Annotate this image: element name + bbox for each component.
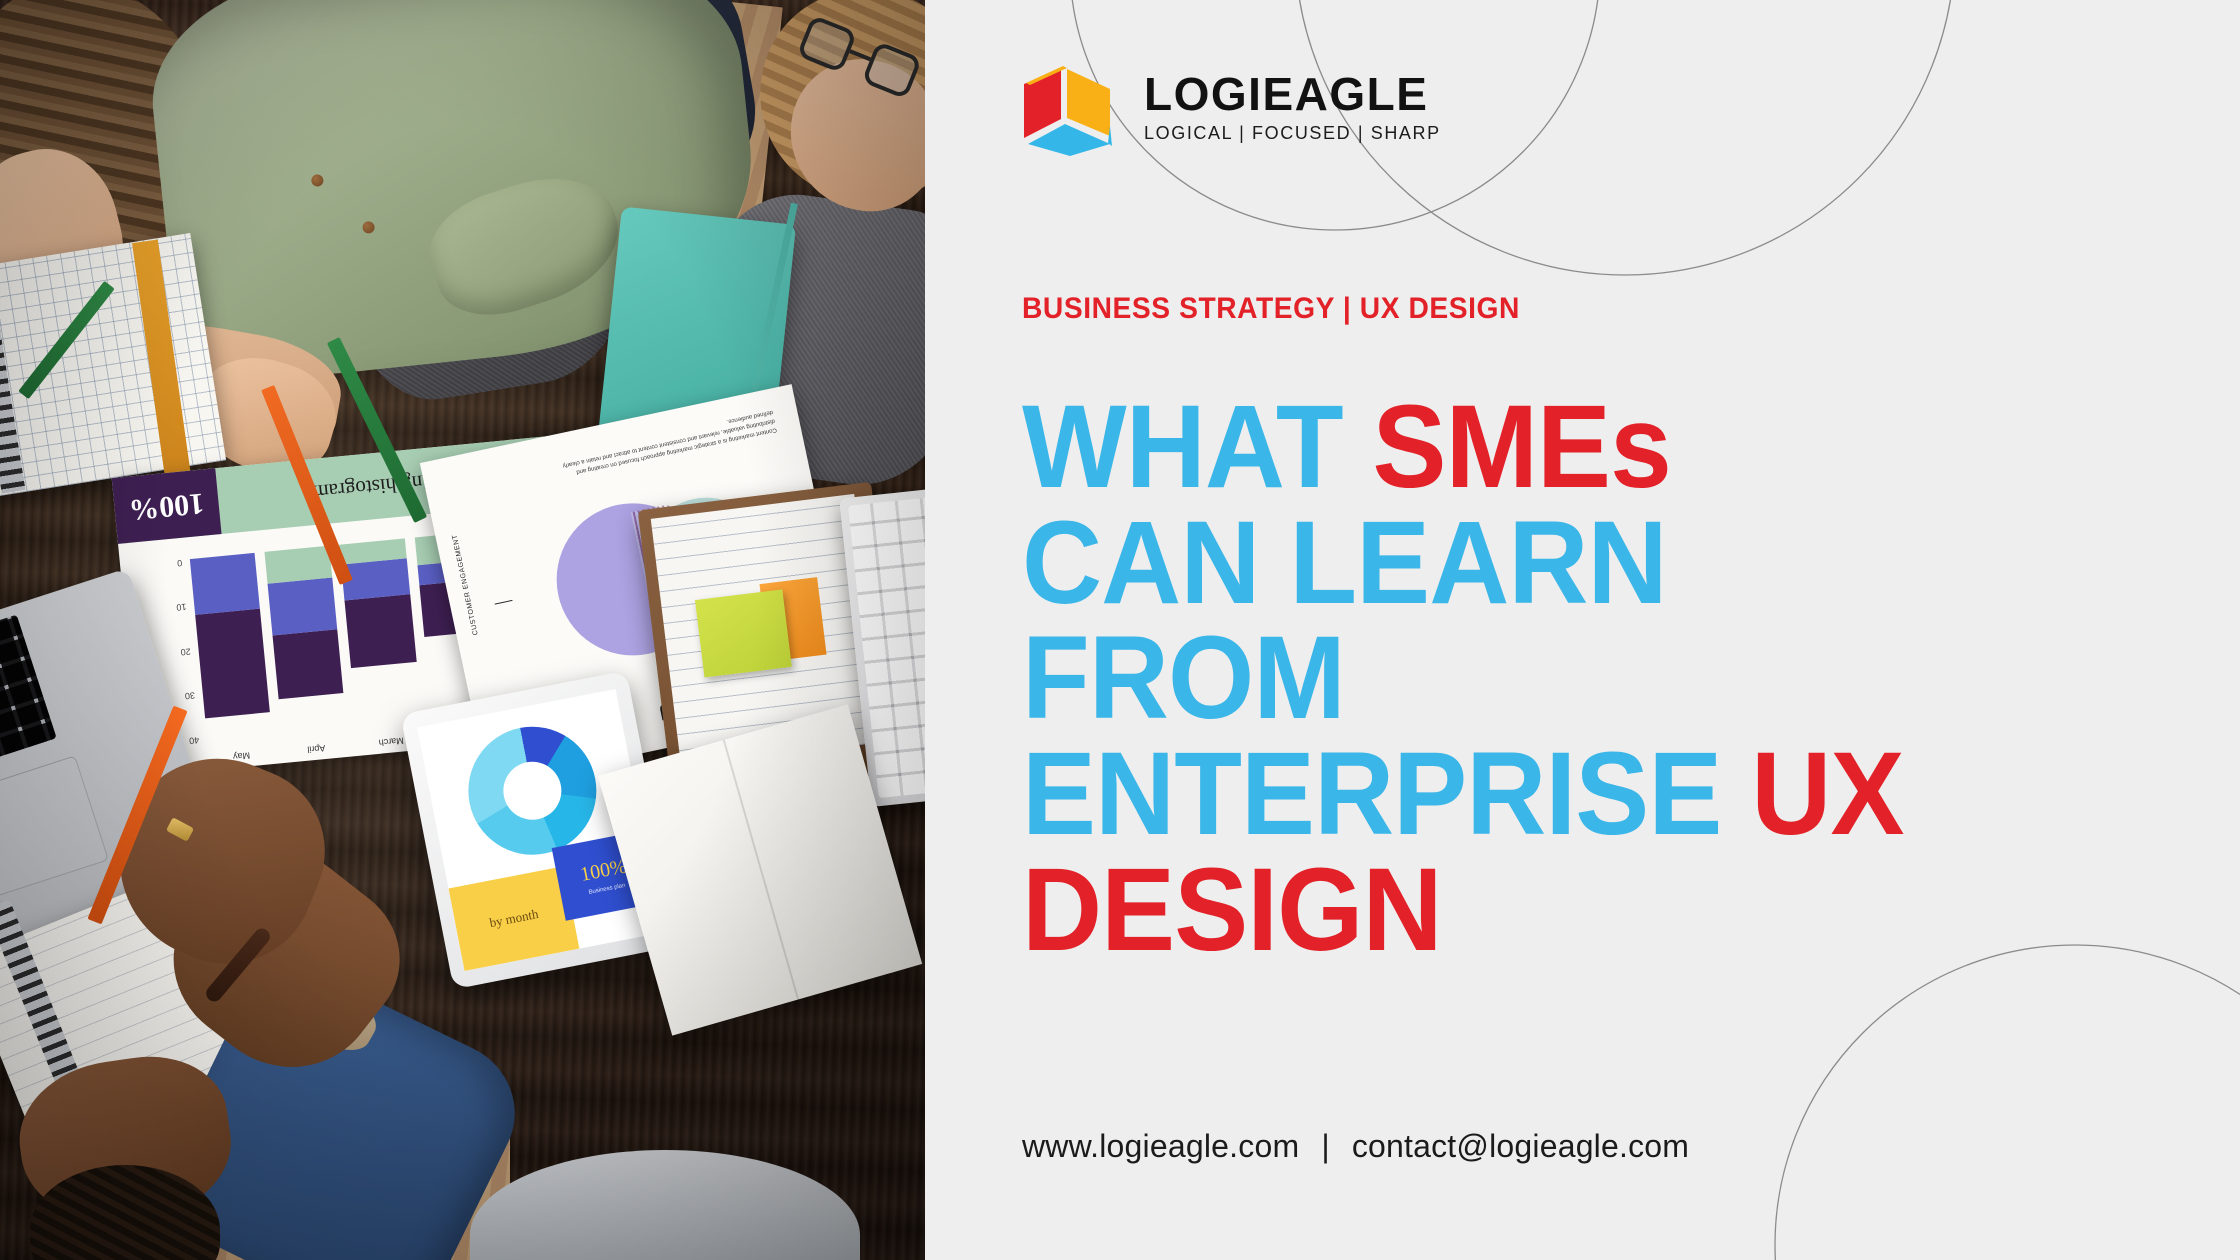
- headline-seg: UX: [1751, 728, 1903, 860]
- headline: WHAT SMEs CAN LEARN FROM ENTERPRISE UX D…: [1022, 390, 2131, 968]
- laptop-keyboard: [0, 614, 57, 784]
- brand-tagline: LOGICAL | FOCUSED | SHARP: [1144, 124, 1441, 142]
- email-link[interactable]: contact@logieagle.com: [1352, 1128, 1689, 1165]
- venn-leader-line: [495, 600, 513, 605]
- laptop-trackpad: [0, 755, 109, 900]
- headline-seg: WHAT: [1022, 381, 1373, 513]
- histogram-badge: 100%: [112, 468, 222, 544]
- brand-name: LOGIEAGLE: [1144, 71, 1441, 117]
- headline-seg: ENTERPRISE: [1022, 728, 1751, 860]
- histogram-bar: [340, 538, 417, 668]
- headline-seg: SMEs: [1373, 381, 1671, 513]
- footer-separator: |: [1321, 1128, 1330, 1165]
- contact-footer: www.logieagle.com | contact@logieagle.co…: [1022, 1128, 1689, 1165]
- marketing-banner: 100% Marketing histogram January Februar…: [0, 0, 2240, 1260]
- headline-seg: FROM: [1022, 612, 1345, 744]
- brand-logo[interactable]: LOGIEAGLE LOGICAL | FOCUSED | SHARP: [1020, 56, 1441, 156]
- venn-label-customer-engagement: CUSTOMER ENGAGEMENT: [451, 534, 479, 636]
- circle-outline-bottom-right: [1775, 945, 2240, 1260]
- sticky-note-yellow: [695, 589, 792, 677]
- headline-line-5: DESIGN: [1022, 853, 2131, 969]
- headline-line-3: FROM: [1022, 621, 2131, 737]
- content-panel: LOGIEAGLE LOGICAL | FOCUSED | SHARP BUSI…: [925, 0, 2240, 1260]
- cube-icon: [1020, 56, 1114, 156]
- histogram-bar: [265, 546, 344, 700]
- eyebrow-text: BUSINESS STRATEGY | UX DESIGN: [1022, 292, 1520, 326]
- tablet-caption: by month: [488, 906, 540, 931]
- website-link[interactable]: www.logieagle.com: [1022, 1128, 1299, 1165]
- hist-ytick: 0: [126, 558, 183, 573]
- headline-seg: DESIGN: [1022, 844, 1442, 976]
- jacket-button: [311, 174, 324, 187]
- headline-line-2: CAN LEARN: [1022, 506, 2131, 622]
- hist-cat-label: April: [283, 741, 349, 757]
- histogram-bar: [190, 553, 270, 719]
- headline-line-4: ENTERPRISE UX: [1022, 737, 2131, 853]
- team-photo: 100% Marketing histogram January Februar…: [0, 0, 925, 1260]
- headline-line-1: WHAT SMEs: [1022, 390, 2131, 506]
- jacket-button: [362, 221, 375, 234]
- headline-seg: CAN LEARN: [1022, 497, 1667, 629]
